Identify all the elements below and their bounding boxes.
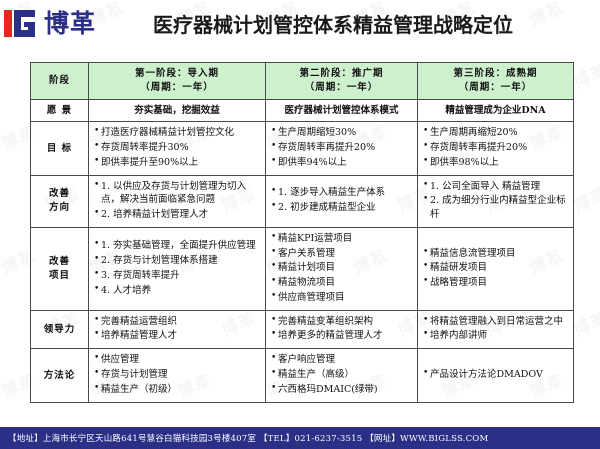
column-header-phase-3-sub: （周期：一年） bbox=[423, 81, 568, 95]
list-item: 生产周期再缩短20% bbox=[423, 126, 568, 140]
matrix-cell: 1. 夯实基础管理，全面提升供应管理2. 存货与计划管理体系搭建3. 存货周转率… bbox=[89, 227, 266, 310]
bullet-list: 产品设计方法论DMADOV bbox=[423, 368, 568, 382]
biggs-logo-icon bbox=[4, 9, 35, 37]
list-item: 战略管理项目 bbox=[423, 276, 568, 290]
brand-logo: 博革 bbox=[4, 9, 96, 37]
table-row: 愿 景夯实基础，挖掘效益医疗器械计划管控体系模式精益管理成为企业DNA bbox=[31, 99, 574, 122]
list-item: 1. 逐步导入精益生产体系 bbox=[271, 186, 412, 200]
list-item: 1. 公司全面导入 精益管理 bbox=[423, 180, 568, 194]
bullet-list: 将精益管理融入到日常运营之中培养内部讲师 bbox=[423, 315, 568, 344]
page-title: 医疗器械计划管控体系精益管理战略定位 bbox=[96, 9, 600, 38]
matrix-cell: 生产周期缩短30%存货周转率再提升20%即供率94%以上 bbox=[266, 122, 418, 175]
list-item: 精益生产（高级） bbox=[271, 368, 412, 382]
row-label: 愿 景 bbox=[31, 99, 89, 122]
list-item: 完善精益运营组织 bbox=[94, 315, 260, 329]
matrix-cell: 1. 公司全面导入 精益管理2. 成为细分行业内精益型企业标杆 bbox=[418, 175, 574, 227]
list-item: 产品设计方法论DMADOV bbox=[423, 368, 568, 382]
matrix-cell: 生产周期再缩短20%存货周转率再提升20%即供率98%以上 bbox=[418, 122, 574, 175]
matrix-cell: 完善精益运营组织培养精益管理人才 bbox=[89, 310, 266, 349]
matrix-cell: 打造医疗器械精益计划管控文化存货周转率提升30%即供率提升至90%以上 bbox=[89, 122, 266, 175]
table-row: 方法论供应管理存货与计划管理精益生产（初级）客户响应管理精益生产（高级）六西格玛… bbox=[31, 349, 574, 402]
list-item: 精益生产（初级） bbox=[94, 383, 260, 397]
list-item: 存货周转率再提升20% bbox=[423, 141, 568, 155]
strategy-matrix-table: 阶段 第一阶段：导入期 （周期：一年） 第二阶段：推广期 （周期：一年） 第三阶… bbox=[30, 62, 574, 403]
matrix-cell: 将精益管理融入到日常运营之中培养内部讲师 bbox=[418, 310, 574, 349]
bullet-list: 1. 以供应及存货与计划管理为切入点，解决当前面临紧急问题2. 培养精益计划管理… bbox=[94, 180, 260, 222]
list-item: 培养内部讲师 bbox=[423, 329, 568, 343]
matrix-cell: 医疗器械计划管控体系模式 bbox=[266, 99, 418, 122]
matrix-cell: 精益管理成为企业DNA bbox=[418, 99, 574, 122]
bullet-list: 供应管理存货与计划管理精益生产（初级） bbox=[94, 353, 260, 396]
row-label: 改善项目 bbox=[31, 227, 89, 310]
list-item: 即供率98%以上 bbox=[423, 156, 568, 170]
matrix-cell: 完善精益变革组织架构培养更多的精益管理人才 bbox=[266, 310, 418, 349]
row-label: 改善方向 bbox=[31, 175, 89, 227]
list-item: 即供率94%以上 bbox=[271, 156, 412, 170]
column-header-phase-1-sub: （周期：一年） bbox=[94, 81, 260, 95]
column-header-phase-2-sub: （周期：一年） bbox=[271, 81, 412, 95]
column-header-phase-3-label: 第三阶段：成熟期 bbox=[453, 68, 537, 79]
list-item: 2. 存货与计划管理体系搭建 bbox=[94, 254, 260, 268]
list-item: 客户关系管理 bbox=[271, 247, 412, 261]
bullet-list: 精益KPI运营项目客户关系管理精益计划项目精益物流项目供应商管理项目 bbox=[271, 232, 412, 305]
list-item: 即供率提升至90%以上 bbox=[94, 156, 260, 170]
column-header-phase-1-label: 第一阶段：导入期 bbox=[135, 68, 219, 79]
column-header-phase-3: 第三阶段：成熟期 （周期：一年） bbox=[418, 63, 574, 100]
table-row: 目 标打造医疗器械精益计划管控文化存货周转率提升30%即供率提升至90%以上生产… bbox=[31, 122, 574, 175]
logo-wordmark: 博革 bbox=[44, 11, 96, 36]
bullet-list: 精益信息流管理项目精益研发项目战略管理项目 bbox=[423, 247, 568, 290]
column-header-phase-2-label: 第二阶段：推广期 bbox=[299, 68, 383, 79]
list-item: 3. 存货周转率提升 bbox=[94, 269, 260, 283]
list-item: 存货周转率再提升20% bbox=[271, 141, 412, 155]
matrix-cell: 精益信息流管理项目精益研发项目战略管理项目 bbox=[418, 227, 574, 310]
list-item: 生产周期缩短30% bbox=[271, 126, 412, 140]
list-item: 培养更多的精益管理人才 bbox=[271, 329, 412, 343]
matrix-cell: 客户响应管理精益生产（高级）六西格玛DMAIC(绿带) bbox=[266, 349, 418, 402]
list-item: 1. 夯实基础管理，全面提升供应管理 bbox=[94, 239, 260, 253]
page-header: 博革 医疗器械计划管控体系精益管理战略定位 bbox=[0, 0, 600, 46]
list-item: 存货与计划管理 bbox=[94, 368, 260, 382]
list-item: 将精益管理融入到日常运营之中 bbox=[423, 315, 568, 329]
list-item: 完善精益变革组织架构 bbox=[271, 315, 412, 329]
list-item: 精益计划项目 bbox=[271, 261, 412, 275]
matrix-cell: 夯实基础，挖掘效益 bbox=[89, 99, 266, 122]
logo-bar-red bbox=[4, 10, 12, 37]
column-header-phase-2: 第二阶段：推广期 （周期：一年） bbox=[266, 63, 418, 100]
column-header-phase-1: 第一阶段：导入期 （周期：一年） bbox=[89, 63, 266, 100]
list-item: 精益KPI运营项目 bbox=[271, 232, 412, 246]
list-item: 2. 培养精益计划管理人才 bbox=[94, 208, 260, 222]
table-row: 领导力完善精益运营组织培养精益管理人才完善精益变革组织架构培养更多的精益管理人才… bbox=[31, 310, 574, 349]
bullet-list: 1. 公司全面导入 精益管理2. 成为细分行业内精益型企业标杆 bbox=[423, 180, 568, 222]
table-header-row: 阶段 第一阶段：导入期 （周期：一年） 第二阶段：推广期 （周期：一年） 第三阶… bbox=[31, 63, 574, 100]
footer-contact-text: 【地址】上海市长宁区天山路641号慧谷白猫科技园3号楼407室 【TEL】021… bbox=[0, 432, 488, 444]
strategy-matrix-wrapper: 阶段 第一阶段：导入期 （周期：一年） 第二阶段：推广期 （周期：一年） 第三阶… bbox=[30, 62, 573, 403]
list-item: 供应商管理项目 bbox=[271, 291, 412, 305]
column-header-stage: 阶段 bbox=[31, 63, 89, 100]
list-item: 客户响应管理 bbox=[271, 353, 412, 367]
bullet-list: 生产周期再缩短20%存货周转率再提升20%即供率98%以上 bbox=[423, 126, 568, 169]
list-item: 精益研发项目 bbox=[423, 261, 568, 275]
logo-g-glyph bbox=[14, 10, 35, 37]
list-item: 1. 以供应及存货与计划管理为切入点，解决当前面临紧急问题 bbox=[94, 180, 260, 208]
table-header: 阶段 第一阶段：导入期 （周期：一年） 第二阶段：推广期 （周期：一年） 第三阶… bbox=[31, 63, 574, 100]
bullet-list: 1. 逐步导入精益生产体系2. 初步建成精益型企业 bbox=[271, 186, 412, 215]
bullet-list: 生产周期缩短30%存货周转率再提升20%即供率94%以上 bbox=[271, 126, 412, 169]
page-footer: 【地址】上海市长宁区天山路641号慧谷白猫科技园3号楼407室 【TEL】021… bbox=[0, 427, 600, 449]
bullet-list: 打造医疗器械精益计划管控文化存货周转率提升30%即供率提升至90%以上 bbox=[94, 126, 260, 169]
matrix-cell: 1. 逐步导入精益生产体系2. 初步建成精益型企业 bbox=[266, 175, 418, 227]
table-row: 改善项目1. 夯实基础管理，全面提升供应管理2. 存货与计划管理体系搭建3. 存… bbox=[31, 227, 574, 310]
table-row: 改善方向1. 以供应及存货与计划管理为切入点，解决当前面临紧急问题2. 培养精益… bbox=[31, 175, 574, 227]
list-item: 2. 成为细分行业内精益型企业标杆 bbox=[423, 194, 568, 222]
matrix-cell: 供应管理存货与计划管理精益生产（初级） bbox=[89, 349, 266, 402]
list-item: 存货周转率提升30% bbox=[94, 141, 260, 155]
row-label: 领导力 bbox=[31, 310, 89, 349]
table-body: 愿 景夯实基础，挖掘效益医疗器械计划管控体系模式精益管理成为企业DNA目 标打造… bbox=[31, 99, 574, 402]
row-label: 方法论 bbox=[31, 349, 89, 402]
matrix-cell: 1. 以供应及存货与计划管理为切入点，解决当前面临紧急问题2. 培养精益计划管理… bbox=[89, 175, 266, 227]
list-item: 打造医疗器械精益计划管控文化 bbox=[94, 126, 260, 140]
list-item: 供应管理 bbox=[94, 353, 260, 367]
column-header-stage-label: 阶段 bbox=[49, 75, 70, 86]
bullet-list: 1. 夯实基础管理，全面提升供应管理2. 存货与计划管理体系搭建3. 存货周转率… bbox=[94, 239, 260, 297]
bullet-list: 完善精益运营组织培养精益管理人才 bbox=[94, 315, 260, 344]
list-item: 精益物流项目 bbox=[271, 276, 412, 290]
bullet-list: 客户响应管理精益生产（高级）六西格玛DMAIC(绿带) bbox=[271, 353, 412, 396]
matrix-cell: 精益KPI运营项目客户关系管理精益计划项目精益物流项目供应商管理项目 bbox=[266, 227, 418, 310]
matrix-cell: 产品设计方法论DMADOV bbox=[418, 349, 574, 402]
list-item: 培养精益管理人才 bbox=[94, 329, 260, 343]
row-label: 目 标 bbox=[31, 122, 89, 175]
list-item: 4. 人才培养 bbox=[94, 284, 260, 298]
bullet-list: 完善精益变革组织架构培养更多的精益管理人才 bbox=[271, 315, 412, 344]
list-item: 2. 初步建成精益型企业 bbox=[271, 201, 412, 215]
list-item: 精益信息流管理项目 bbox=[423, 247, 568, 261]
list-item: 六西格玛DMAIC(绿带) bbox=[271, 383, 412, 397]
